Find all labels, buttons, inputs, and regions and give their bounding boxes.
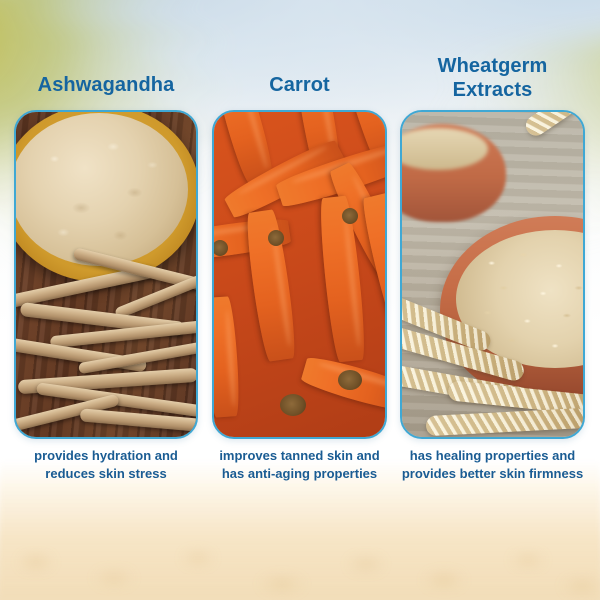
ingredient-image-card-ashwagandha <box>14 110 198 439</box>
ingredient-image-card-carrot <box>212 110 387 439</box>
carrot-photo <box>214 112 385 437</box>
ashwagandha-photo <box>16 112 196 437</box>
ingredient-caption-wheatgerm: has healing properties and provides bett… <box>396 447 589 482</box>
ashwagandha-powder <box>14 113 188 266</box>
ingredient-image-card-wheatgerm <box>400 110 585 439</box>
ingredient-column-wheatgerm: Wheatgerm Extracts <box>400 0 585 600</box>
ingredient-title-ashwagandha: Ashwagandha <box>14 74 198 98</box>
ingredient-columns: Ashwagandha <box>0 0 600 600</box>
powder-texture <box>14 113 188 266</box>
ingredient-title-wheatgerm: Wheatgerm Extracts <box>400 55 585 102</box>
ingredient-benefits-infographic: Ashwagandha <box>0 0 600 600</box>
ingredient-column-ashwagandha: Ashwagandha <box>14 0 198 600</box>
ingredient-caption-carrot: improves tanned skin and has anti-aging … <box>208 447 391 482</box>
background-bowl-grains <box>400 128 488 170</box>
ingredient-caption-ashwagandha: provides hydration and reduces skin stre… <box>10 447 202 482</box>
wheatgerm-photo <box>402 112 583 437</box>
ingredient-column-carrot: Carrot <box>212 0 387 600</box>
ingredient-title-carrot: Carrot <box>212 74 387 98</box>
